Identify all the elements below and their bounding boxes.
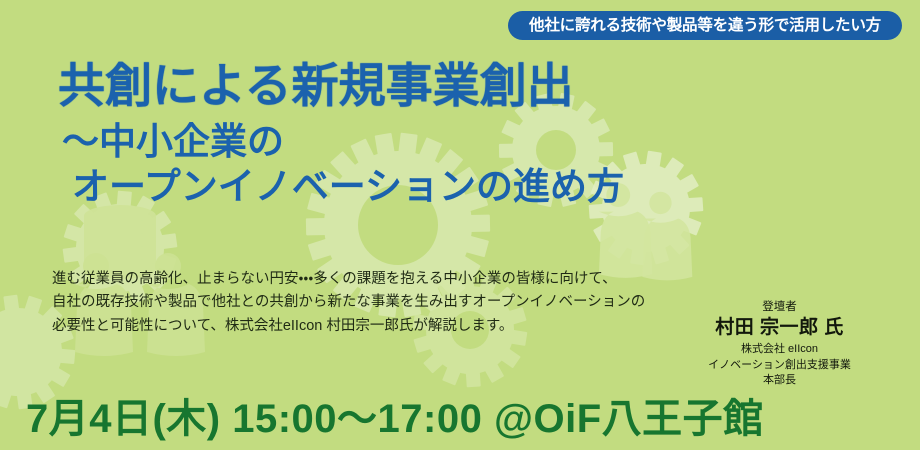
lead-line-1: 進む従業員の高齢化、止まらない円安・・・多くの課題を抱える中小企業の皆様に向けて… [52,268,682,291]
portrait-eye-left [753,192,775,197]
lead-line-2: 自社の既存技術や製品で他社との共創から新たな事業を生み出すオープンイノベーション… [52,291,682,314]
portrait-hair [731,134,828,189]
page-title: 共創による新規事業創出 [58,62,658,110]
portrait-gear-backdrop [663,85,895,317]
speaker-caption: 登壇者 村田 宗一郎 氏 株式会社 eIIcon イノベーション創出支援事業 本… [672,300,887,389]
portrait-face [734,140,824,246]
audience-badge-label: 他社に誇れる技術や製品等を違う形で活用したい方 [529,18,881,34]
subtitle-line-2: オープンイノベーションの進め方 [58,167,658,207]
event-datetime-venue-text: 7月4日(木) 15:00〜17:00 @OiF八王子館 [0,399,764,439]
speaker-org-line-2: イノベーション創出支援事業 [672,358,887,374]
event-datetime-venue: 7月4日(木) 15:00〜17:00 @OiF八王子館 [0,390,920,448]
speaker-portrait [663,85,895,317]
lead-line-3: 必要性と可能性について、株式会社eIIcon 村田宗一郎氏が解説します。 [52,315,682,338]
speaker-org-line-3: 本部長 [672,373,887,389]
headline-group: 共創による新規事業創出 〜中小企業の オープンイノベーションの進め方 [58,62,658,207]
portrait-teeth [759,226,799,231]
event-banner: 他社に誇れる技術や製品等を違う形で活用したい方 共創による新規事業創出 〜中小企… [0,0,920,450]
audience-badge: 他社に誇れる技術や製品等を違う形で活用したい方 [508,11,902,40]
portrait-neck [762,217,796,252]
lead-paragraph: 進む従業員の高齢化、止まらない円安・・・多くの課題を抱える中小企業の皆様に向けて… [52,268,682,338]
speaker-org-line-1: 株式会社 eIIcon [672,342,887,358]
portrait-eye-right [783,191,805,196]
subtitle-line-1: 〜中小企業の [58,122,658,162]
speaker-name: 村田 宗一郎 氏 [672,316,887,341]
speaker-role-label: 登壇者 [672,300,887,314]
portrait-mouth [757,225,801,235]
